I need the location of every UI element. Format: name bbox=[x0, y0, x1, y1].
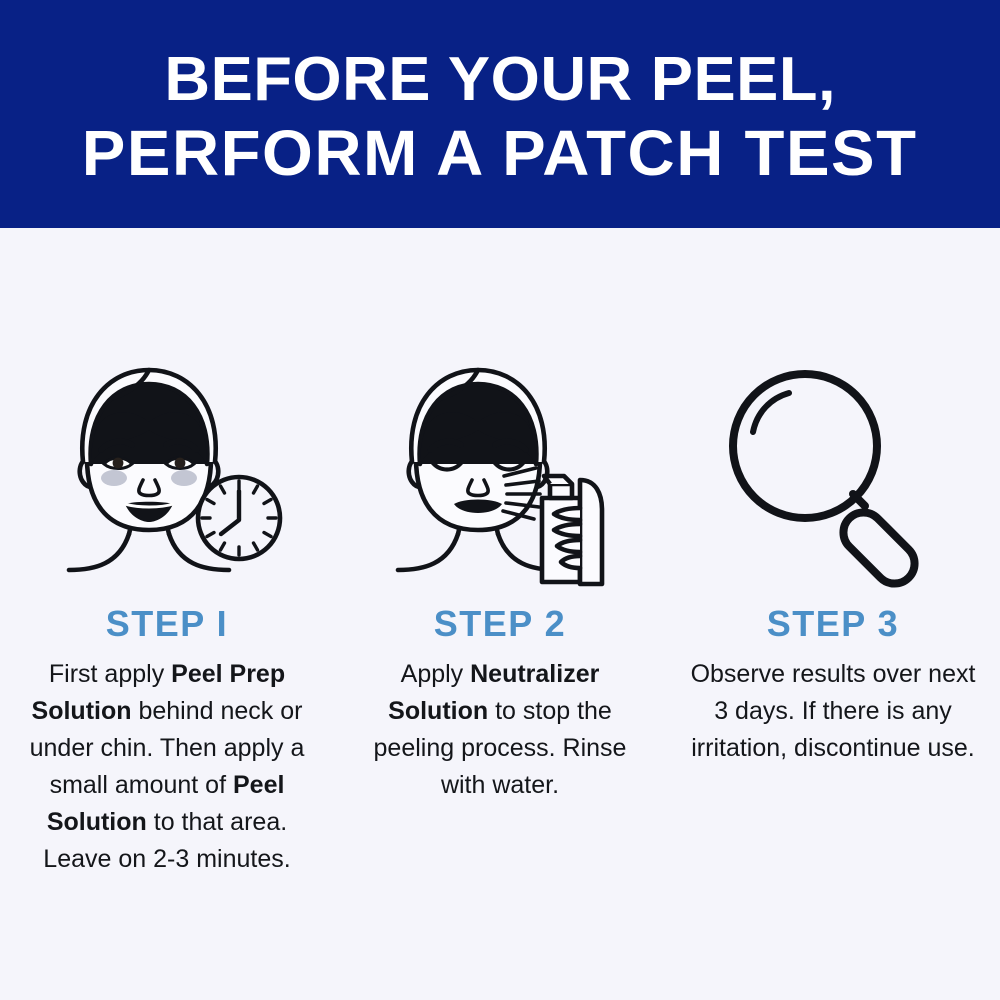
infographic-page: BEFORE YOUR PEEL, PERFORM A PATCH TEST bbox=[0, 0, 1000, 1000]
steps-container: STEP I First apply Peel Prep Solution be… bbox=[0, 228, 1000, 1000]
face-with-spray-bottle-icon bbox=[384, 358, 616, 588]
page-title-line-2: PERFORM A PATCH TEST bbox=[82, 116, 918, 192]
blush-right bbox=[171, 470, 197, 486]
step-2-illustration bbox=[360, 348, 640, 588]
step-3-illustration bbox=[693, 348, 973, 588]
step-1-heading: STEP I bbox=[106, 606, 228, 642]
step-3-column: STEP 3 Observe results over next 3 days.… bbox=[667, 348, 1000, 767]
step-3-body: Observe results over next 3 days. If the… bbox=[683, 656, 983, 767]
step-2-heading: STEP 2 bbox=[434, 606, 566, 642]
clock-icon bbox=[198, 477, 280, 559]
magnifier-handle bbox=[835, 494, 923, 592]
page-title-line-1: BEFORE YOUR PEEL, bbox=[164, 43, 836, 116]
step-1-column: STEP I First apply Peel Prep Solution be… bbox=[1, 348, 334, 878]
step-1-body: First apply Peel Prep Solution behind ne… bbox=[17, 656, 317, 878]
step-3-heading: STEP 3 bbox=[767, 606, 899, 642]
step-1-illustration bbox=[27, 348, 307, 588]
magnifying-glass-icon bbox=[717, 358, 949, 588]
blush-left bbox=[101, 470, 127, 486]
step-2-body: Apply Neutralizer Solution to stop the p… bbox=[350, 656, 650, 804]
step-2-column: STEP 2 Apply Neutralizer Solution to sto… bbox=[334, 348, 667, 804]
face-with-clock-icon bbox=[51, 358, 283, 588]
header-banner: BEFORE YOUR PEEL, PERFORM A PATCH TEST bbox=[0, 0, 1000, 228]
